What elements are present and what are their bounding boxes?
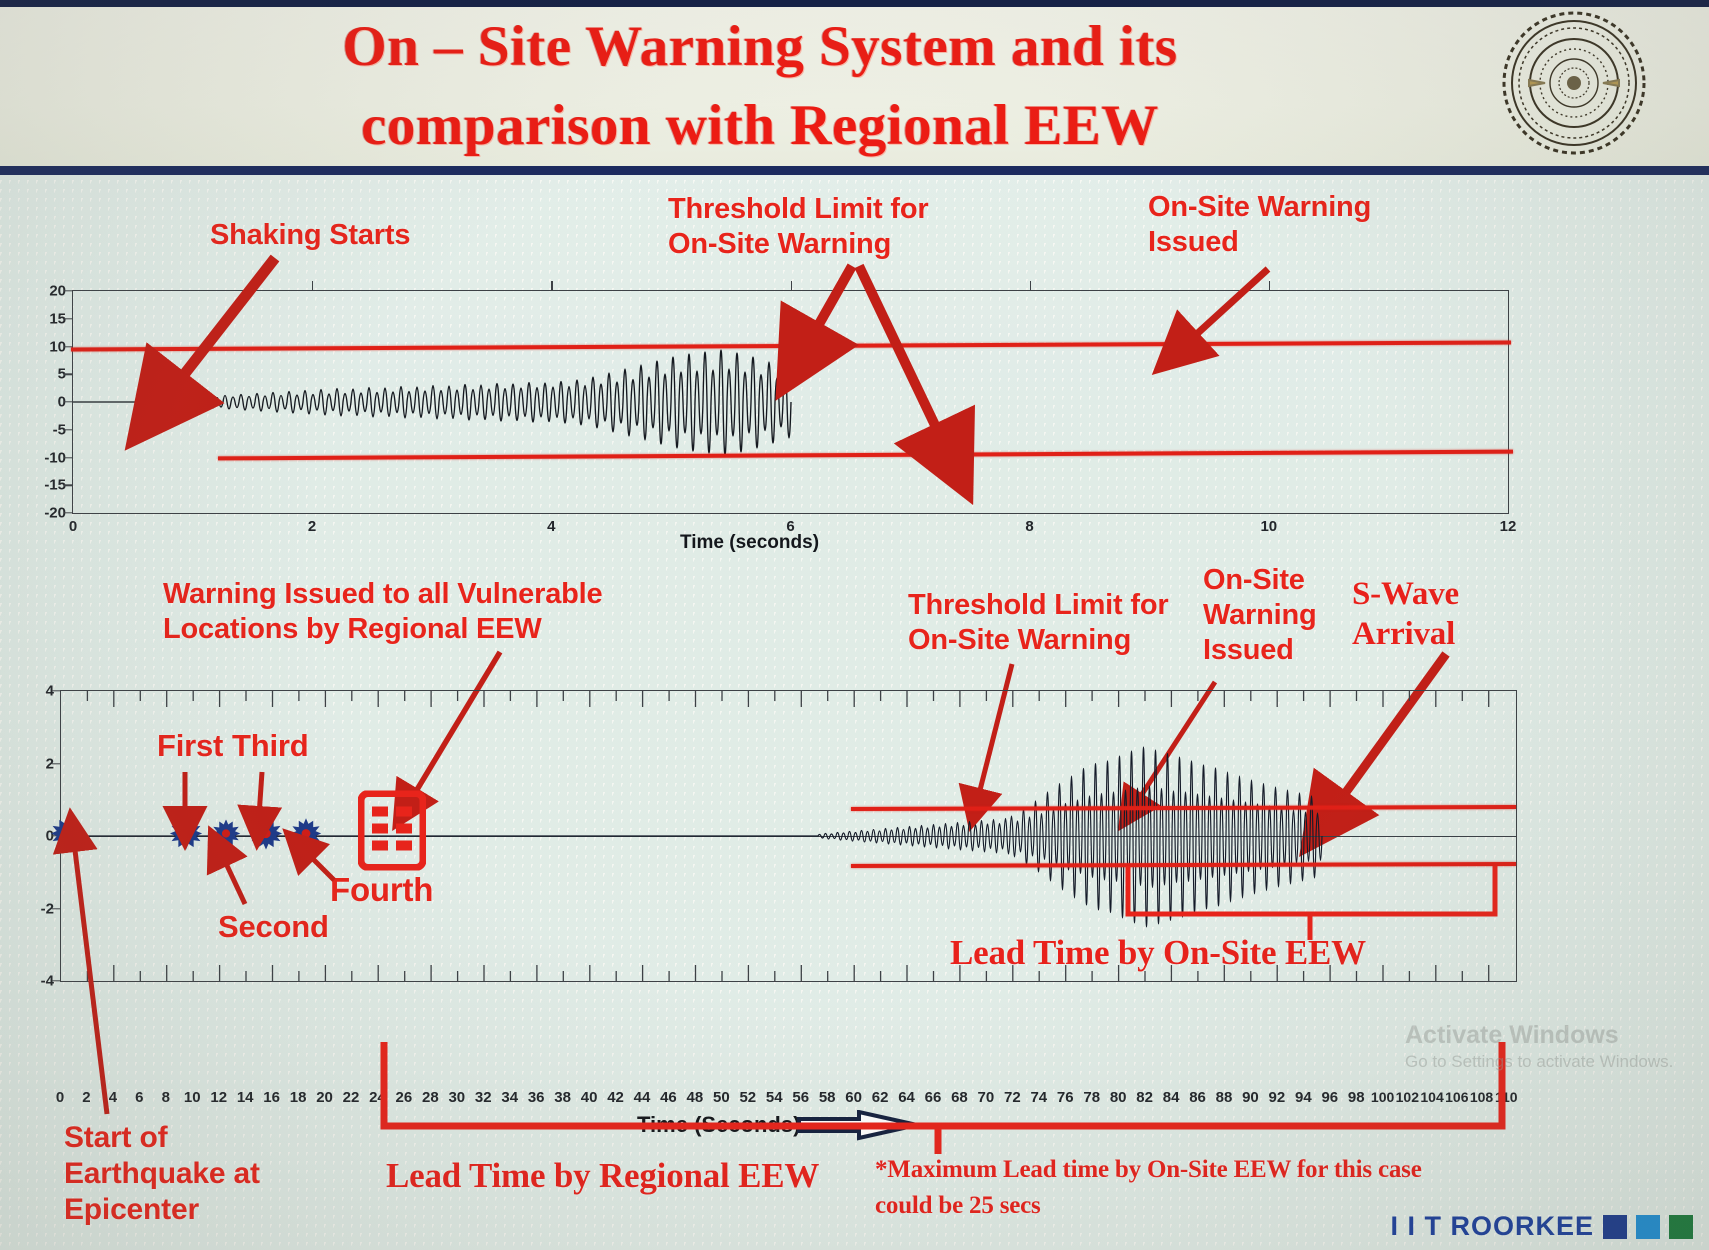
annotation-s-wave-line1: S-Wave: [1352, 575, 1459, 615]
bottom-ytickmark-4: [52, 690, 61, 691]
start-eq-line1: Start of: [64, 1120, 260, 1156]
annotation-on-site-warning-issued-top: On-Site Warning Issued: [1148, 190, 1371, 260]
top-ytickmark-m15: [64, 485, 73, 486]
start-eq-line2: Earthquake at: [64, 1156, 260, 1192]
footer-square-1: [1603, 1215, 1627, 1239]
annotation-threshold-bottom-line2: On-Site Warning: [908, 623, 1168, 658]
top-ytickmark-20: [64, 290, 73, 291]
top-xtick-10: 10: [1260, 513, 1277, 535]
footer-institute-logo: I I T ROORKEE: [1390, 1211, 1693, 1242]
windows-activation-watermark: Activate Windows Go to Settings to activ…: [1405, 1020, 1673, 1073]
bx-16: 16: [263, 1084, 280, 1106]
top-ytickmark-5: [64, 374, 73, 375]
top-ytickmark-15: [64, 318, 73, 319]
arrow-third-icon: [250, 770, 274, 832]
watermark-line2: Go to Settings to activate Windows.: [1405, 1051, 1673, 1072]
page-title-line2: comparison with Regional EEW: [150, 87, 1370, 166]
top-ytickmark-0: [64, 401, 73, 402]
top-xtick-0: 0: [69, 513, 77, 535]
bottom-ytickmark-2: [52, 763, 61, 764]
annotation-threshold-limit-top-line1: Threshold Limit for: [668, 192, 928, 227]
footer-institute-name: I I T ROORKEE: [1390, 1211, 1594, 1242]
top-chart-xaxis-label: Time (seconds): [680, 532, 819, 554]
second-station-star-icon: [211, 819, 241, 854]
page-title-line1: On – Site Warning System and its: [150, 8, 1370, 87]
top-xtickmark-8: [1030, 281, 1031, 291]
annotation-lead-time-on-site: Lead Time by On-Site EEW: [950, 932, 1366, 974]
annotation-start-of-earthquake: Start of Earthquake at Epicenter: [64, 1120, 260, 1228]
top-xtick-2: 2: [308, 513, 316, 535]
footnote-line1: *Maximum Lead time by On-Site EEW for th…: [875, 1152, 1422, 1188]
bx-18: 18: [290, 1084, 307, 1106]
arrow-warning-issued-top-icon: [1170, 264, 1300, 364]
arrow-second-icon: [215, 852, 255, 914]
bx-6: 6: [135, 1084, 143, 1106]
bx-10: 10: [184, 1084, 201, 1106]
annotation-regional-line2: Locations by Regional EEW: [163, 612, 602, 647]
top-xtick-4: 4: [547, 513, 555, 535]
bx-22: 22: [343, 1084, 360, 1106]
bx-12: 12: [210, 1084, 227, 1106]
annotation-warning-issued-top-line2: Issued: [1148, 225, 1371, 260]
arrow-fourth-icon: [300, 848, 346, 890]
top-xtick-8: 8: [1025, 513, 1033, 535]
annotation-warning-issued-top-line1: On-Site Warning: [1148, 190, 1371, 225]
arrow-start-of-earthquake-icon: [62, 832, 122, 1122]
vulnerable-building-icon: [358, 791, 426, 876]
bx-14: 14: [237, 1084, 254, 1106]
annotation-threshold-limit-top-line2: On-Site Warning: [668, 227, 928, 262]
lead-time-regional-brace: [378, 1042, 1508, 1158]
arrow-threshold-lower-icon: [830, 262, 1000, 462]
top-xtickmark-4: [551, 281, 552, 291]
footnote-max-lead-time: *Maximum Lead time by On-Site EEW for th…: [875, 1152, 1422, 1225]
annotation-lead-time-regional: Lead Time by Regional EEW: [386, 1155, 819, 1197]
annotation-threshold-bottom-line1: Threshold Limit for: [908, 588, 1168, 623]
annotation-shaking-starts: Shaking Starts: [210, 218, 410, 253]
top-ytickmark-m5: [64, 429, 73, 430]
header-top-strip: [0, 0, 1709, 7]
slide-header: On – Site Warning System and its compari…: [0, 0, 1709, 175]
footnote-line2: could be 25 secs: [875, 1188, 1422, 1224]
iit-roorkee-emblem-icon: [1499, 8, 1649, 158]
annotation-threshold-limit-top: Threshold Limit for On-Site Warning: [668, 192, 928, 262]
arrow-shaking-starts-icon: [150, 250, 310, 410]
arrow-first-icon: [175, 770, 199, 832]
bottom-top-ruler-ticks: [61, 691, 1516, 711]
bx-20: 20: [316, 1084, 333, 1106]
annotation-warning-bottom-line3: Issued: [1203, 633, 1317, 668]
start-eq-line3: Epicenter: [64, 1192, 260, 1228]
annotation-s-wave-arrival: S-Wave Arrival: [1352, 575, 1459, 654]
top-ytickmark-m10: [64, 457, 73, 458]
annotation-warning-bottom-line2: Warning: [1203, 598, 1317, 633]
page-title: On – Site Warning System and its compari…: [150, 8, 1370, 165]
label-first: First: [157, 727, 223, 764]
annotation-regional-line1: Warning Issued to all Vulnerable: [163, 577, 602, 612]
top-xtickmark-2: [312, 281, 313, 291]
annotation-warning-bottom-line1: On-Site: [1203, 563, 1317, 598]
footer-square-3: [1669, 1215, 1693, 1239]
bottom-ytickmark-m4: [52, 980, 61, 981]
bx-8: 8: [162, 1084, 170, 1106]
annotation-on-site-warning-issued-bottom: On-Site Warning Issued: [1203, 563, 1317, 667]
annotation-warning-issued-regional: Warning Issued to all Vulnerable Locatio…: [163, 577, 602, 647]
label-third: Third: [232, 727, 309, 764]
watermark-line1: Activate Windows: [1405, 1020, 1673, 1051]
bottom-ytickmark-m2: [52, 908, 61, 909]
top-xtick-12: 12: [1500, 513, 1517, 535]
footer-square-2: [1636, 1215, 1660, 1239]
annotation-threshold-limit-bottom: Threshold Limit for On-Site Warning: [908, 588, 1168, 658]
